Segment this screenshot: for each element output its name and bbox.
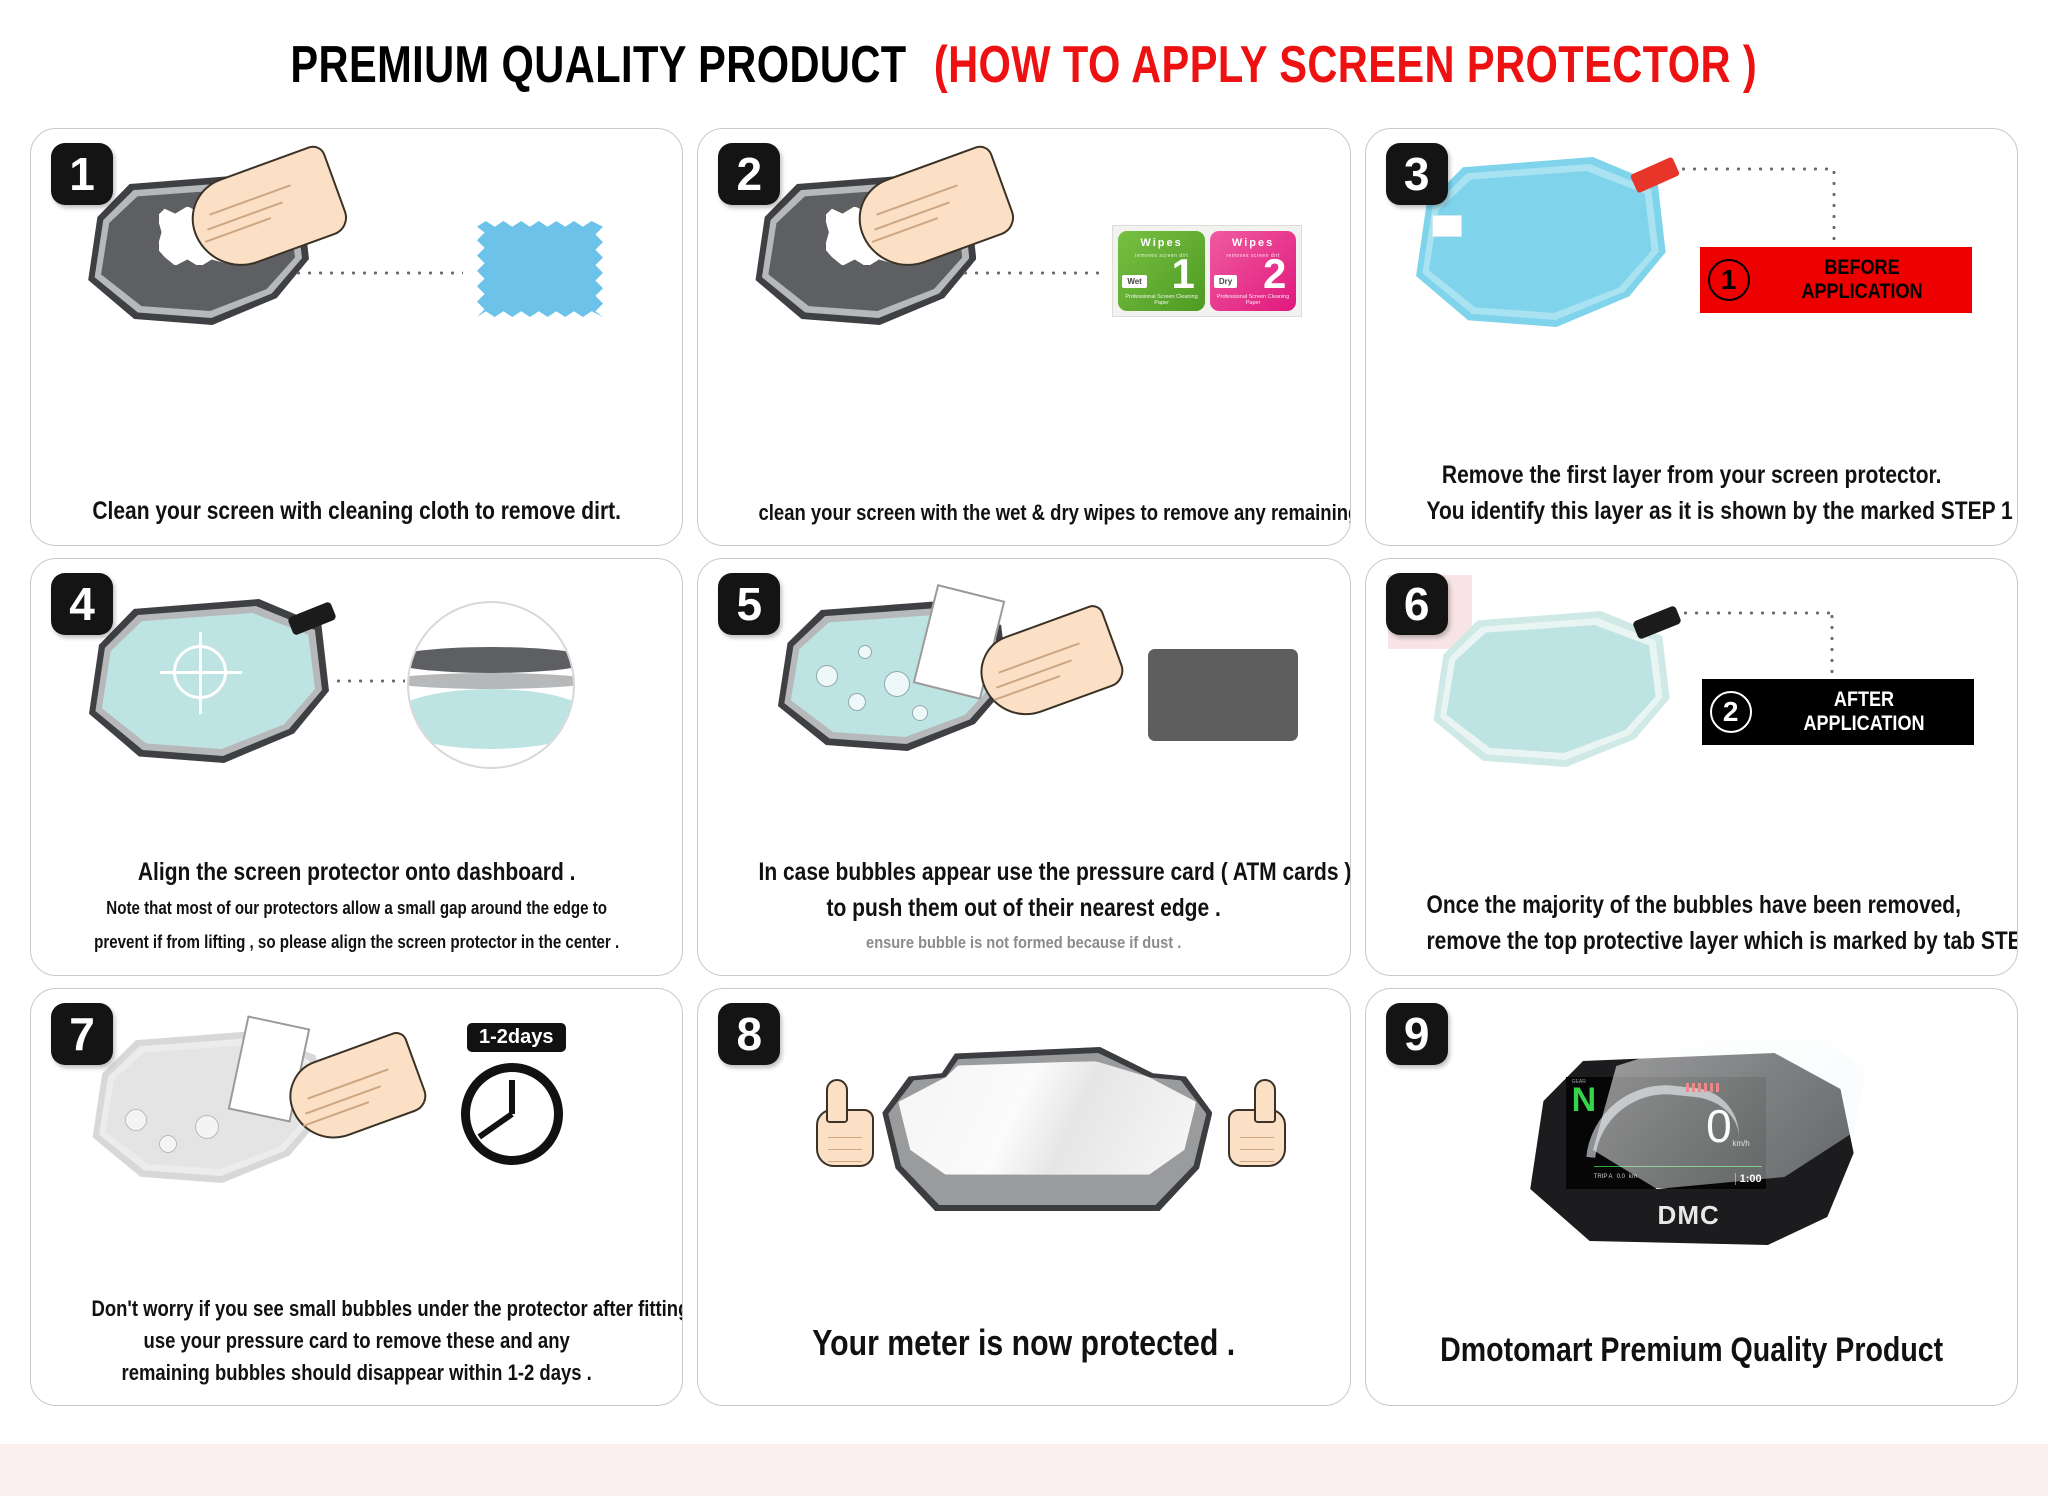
banner-line-2: APPLICATION xyxy=(1776,712,1951,736)
step-card-6: 6 2 AFTER APPLICATION Once the majority … xyxy=(1365,558,2018,976)
dry-wipe-number: 2 xyxy=(1263,253,1286,295)
dotted-connector-vertical xyxy=(1832,167,1836,253)
step-caption-9: Dmotomart Premium Quality Product xyxy=(1376,1326,2007,1375)
banner-text: BEFORE APPLICATION xyxy=(1774,256,1949,303)
step-illustration-1 xyxy=(31,137,682,397)
step-caption-4: Align the screen protector onto dashboar… xyxy=(41,854,672,959)
step-illustration-8 xyxy=(698,1019,1349,1279)
motorcycle-dashboard-icon: GEAR N 0 km/h TRIP A 0.0 km 1:00 DMC xyxy=(1524,1049,1854,1249)
step-card-8: 8 Your meter is now protected . xyxy=(697,988,1350,1406)
caption-line: clean your screen with the wet & dry wip… xyxy=(759,497,1289,529)
wet-wipe-tag: Wet xyxy=(1122,275,1147,288)
step-illustration-4 xyxy=(31,567,682,827)
wet-wipe-number: 1 xyxy=(1171,253,1194,295)
atm-card-icon xyxy=(1148,649,1298,741)
wet-wipe-packet: Wipes removes screen dirt 1 Wet Professi… xyxy=(1118,231,1205,311)
step-number-badge-8: 8 xyxy=(718,1003,780,1065)
banner-step-circle: 1 xyxy=(1708,259,1750,301)
protected-meter-icon xyxy=(882,1047,1212,1211)
title-red-part: (HOW TO APPLY SCREEN PROTECTOR ) xyxy=(934,36,1757,94)
screen-protector-icon xyxy=(1424,611,1670,767)
dry-wipe-packet: Wipes removes screen dirt 2 Dry Professi… xyxy=(1210,231,1297,311)
dotted-connector xyxy=(960,271,1102,275)
bottom-band xyxy=(0,1444,2048,1496)
protector-corner-mark xyxy=(1432,215,1462,237)
microfibre-cloth-icon xyxy=(477,221,603,317)
dotted-connector xyxy=(1680,611,1832,615)
step-caption-2: clean your screen with the wet & dry wip… xyxy=(708,497,1339,529)
title-black-part: PREMIUM QUALITY PRODUCT xyxy=(291,36,907,94)
step-number-badge-9: 9 xyxy=(1386,1003,1448,1065)
dotted-connector xyxy=(293,271,463,275)
step-number-badge-3: 3 xyxy=(1386,143,1448,205)
wet-wipe-footer: Professional Screen Cleaning Paper xyxy=(1118,294,1205,306)
step-card-2: 2 Wipes removes screen dirt 1 Wet Profes… xyxy=(697,128,1350,546)
step-caption-3: Remove the first layer from your screen … xyxy=(1376,457,2007,530)
alignment-crosshair-icon xyxy=(173,645,227,699)
bubbles-icon xyxy=(195,1115,219,1139)
after-application-banner: 2 AFTER APPLICATION xyxy=(1702,679,1974,745)
step-caption-6: Once the majority of the bubbles have be… xyxy=(1376,887,2007,960)
dry-wipe-brand: Wipes xyxy=(1210,237,1297,249)
caption-line: In case bubbles appear use the pressure … xyxy=(759,854,1289,890)
wipes-packets-icon: Wipes removes screen dirt 1 Wet Professi… xyxy=(1112,225,1302,317)
step-number-badge-4: 4 xyxy=(51,573,113,635)
hand-icon xyxy=(191,165,341,257)
bubbles-icon xyxy=(159,1135,177,1153)
step-card-9: 9 GEAR N 0 km/h TRIP A 0.0 km xyxy=(1365,988,2018,1406)
step-card-5: 5 In case bubbles appear use the pressur… xyxy=(697,558,1350,976)
step-illustration-9: GEAR N 0 km/h TRIP A 0.0 km 1:00 DMC xyxy=(1366,1015,2017,1275)
clock-icon xyxy=(461,1063,563,1165)
trip-value: 0.0 xyxy=(1617,1174,1625,1180)
step-caption-7: Don't worry if you see small bubbles und… xyxy=(41,1293,672,1389)
step-caption-5: In case bubbles appear use the pressure … xyxy=(708,854,1339,959)
trip-label: TRIP A xyxy=(1594,1174,1613,1180)
step-illustration-2: Wipes removes screen dirt 1 Wet Professi… xyxy=(698,137,1349,397)
caption-line: Once the majority of the bubbles have be… xyxy=(1426,887,1956,923)
caption-line: remove the top protective layer which is… xyxy=(1426,923,1956,959)
step-number-badge-5: 5 xyxy=(718,573,780,635)
thumbs-up-icon xyxy=(816,1079,878,1167)
clock-duration-label: 1-2days xyxy=(467,1023,566,1052)
step-illustration-5 xyxy=(698,567,1349,827)
step-card-3: 3 1 BEFORE APPLICATION Remove the first … xyxy=(1365,128,2018,546)
banner-line-2: APPLICATION xyxy=(1774,280,1949,304)
banner-line-1: BEFORE xyxy=(1774,256,1949,280)
caption-line: to push them out of their nearest edge . xyxy=(759,890,1289,926)
step-illustration-6: 2 AFTER APPLICATION xyxy=(1366,567,2017,827)
caption-line: use your pressure card to remove these a… xyxy=(92,1325,622,1357)
step-card-7: 7 1-2days Don't worry if you see small b… xyxy=(30,988,683,1406)
before-application-banner: 1 BEFORE APPLICATION xyxy=(1700,247,1972,313)
caption-line: Don't worry if you see small bubbles und… xyxy=(92,1293,622,1325)
steps-grid: 1 Clean your screen with cleaning cloth … xyxy=(0,118,2048,1436)
step-card-4: 4 Align the screen protector onto dashbo… xyxy=(30,558,683,976)
dotted-connector-vertical xyxy=(1830,611,1834,683)
wet-wipe-brand: Wipes xyxy=(1118,237,1205,249)
caption-gray-line: ensure bubble is not formed because if d… xyxy=(753,927,1296,959)
bubbles-icon xyxy=(125,1109,147,1131)
dry-wipe-footer: Professional Screen Cleaning Paper xyxy=(1210,294,1297,306)
caption-line: You identify this layer as it is shown b… xyxy=(1426,493,1956,529)
step-number-badge-6: 6 xyxy=(1386,573,1448,635)
step-number-badge-1: 1 xyxy=(51,143,113,205)
page-title: PREMIUM QUALITY PRODUCT(HOW TO APPLY SCR… xyxy=(291,35,1758,95)
banner-line-1: AFTER xyxy=(1776,688,1951,712)
step-number-badge-2: 2 xyxy=(718,143,780,205)
step-caption-1: Clean your screen with cleaning cloth to… xyxy=(41,493,672,529)
step-caption-8: Your meter is now protected . xyxy=(708,1317,1339,1369)
dotted-connector xyxy=(1678,167,1834,171)
magnifier-icon xyxy=(407,601,575,769)
caption-line: Your meter is now protected . xyxy=(759,1317,1289,1369)
hand-icon xyxy=(289,1049,421,1131)
gear-value: N xyxy=(1572,1083,1597,1117)
caption-sub-line: Note that most of our protectors allow a… xyxy=(92,891,622,925)
thumbs-up-icon xyxy=(1224,1079,1286,1167)
step-illustration-3: 1 BEFORE APPLICATION xyxy=(1366,137,2017,397)
step-number-badge-7: 7 xyxy=(51,1003,113,1065)
dashboard-brand: DMC xyxy=(1524,1200,1854,1231)
dry-wipe-tag: Dry xyxy=(1214,275,1237,288)
hand-icon xyxy=(858,165,1008,257)
step-illustration-7: 1-2days xyxy=(31,997,682,1257)
caption-line: Dmotomart Premium Quality Product xyxy=(1426,1326,1956,1375)
banner-step-circle: 2 xyxy=(1710,691,1752,733)
step-card-1: 1 Clean your screen with cleaning cloth … xyxy=(30,128,683,546)
page-header: PREMIUM QUALITY PRODUCT(HOW TO APPLY SCR… xyxy=(0,0,2048,118)
hand-icon xyxy=(980,623,1118,707)
banner-text: AFTER APPLICATION xyxy=(1776,688,1951,735)
caption-sub-line: prevent if from lifting , so please alig… xyxy=(92,925,622,959)
dotted-connector xyxy=(333,679,405,683)
caption-line: Clean your screen with cleaning cloth to… xyxy=(92,493,622,529)
caption-line: remaining bubbles should disappear withi… xyxy=(92,1357,622,1389)
caption-line: Remove the first layer from your screen … xyxy=(1426,457,1956,493)
caption-line: Align the screen protector onto dashboar… xyxy=(92,854,622,890)
